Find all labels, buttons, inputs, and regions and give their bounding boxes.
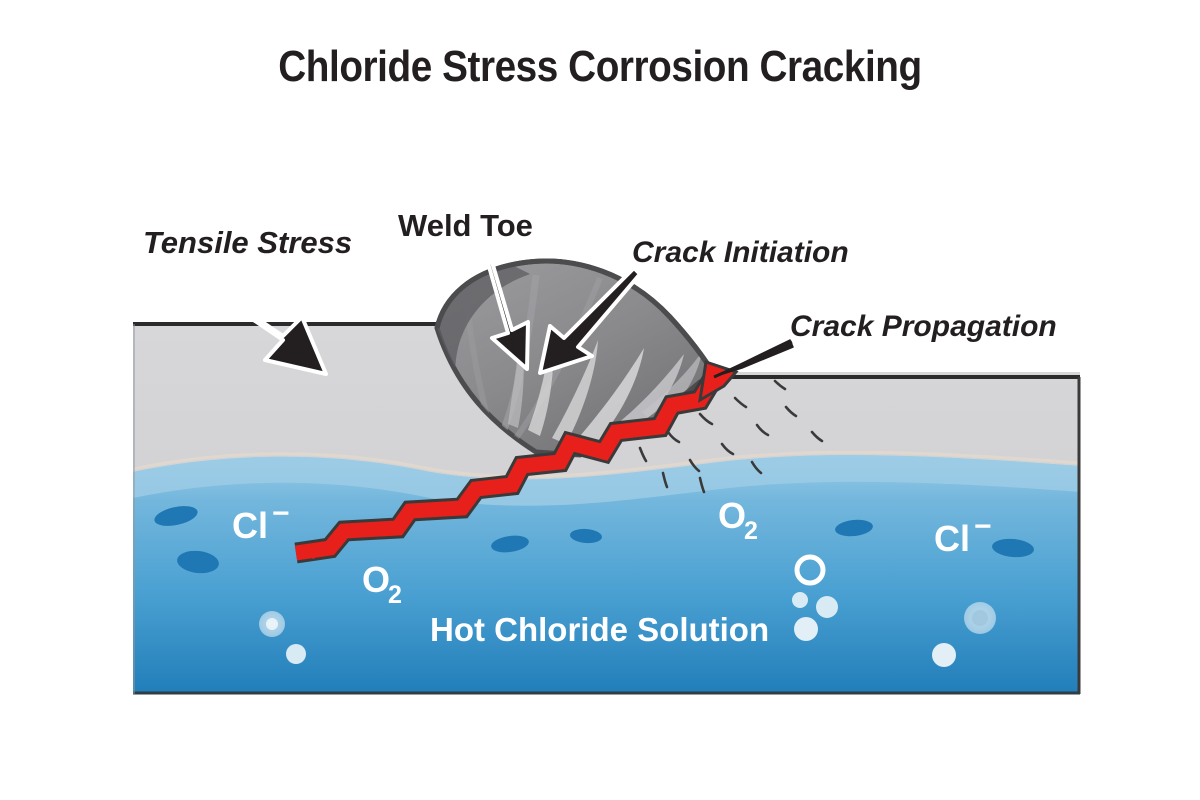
callout-label-crack-initiation: Crack Initiation xyxy=(632,236,849,269)
oxygen-left-subscript: 2 xyxy=(388,581,402,609)
chloride-right-charge: − xyxy=(974,510,992,543)
bubble-ring-core xyxy=(972,610,988,626)
callout-label-weld-toe: Weld Toe xyxy=(398,208,533,243)
bubble-solid xyxy=(816,596,838,618)
bubble-ring-core xyxy=(266,618,278,630)
bubble-solid xyxy=(932,643,956,667)
bubble-solid xyxy=(792,592,808,608)
callout-label-tensile-stress: Tensile Stress xyxy=(143,225,352,260)
corrosion-diagram: Tensile Stress Weld Toe Crack Initiation… xyxy=(0,0,1200,800)
bubble-solid xyxy=(286,644,306,664)
chloride-right-symbol: Cl xyxy=(934,518,970,559)
diagram-canvas: Chloride Stress Corrosion Cracking xyxy=(0,0,1200,800)
callout-label-crack-propagation: Crack Propagation xyxy=(790,310,1057,343)
chloride-left-charge: − xyxy=(272,497,290,530)
oxygen-left-symbol: O xyxy=(362,559,390,600)
bubble-solid xyxy=(794,617,818,641)
chloride-left-symbol: Cl xyxy=(232,505,268,546)
crack-propagation-arrow-stem xyxy=(714,342,792,377)
oxygen-right-symbol: O xyxy=(718,495,746,536)
solution-label: Hot Chloride Solution xyxy=(430,611,769,648)
oxygen-right-subscript: 2 xyxy=(744,517,758,545)
